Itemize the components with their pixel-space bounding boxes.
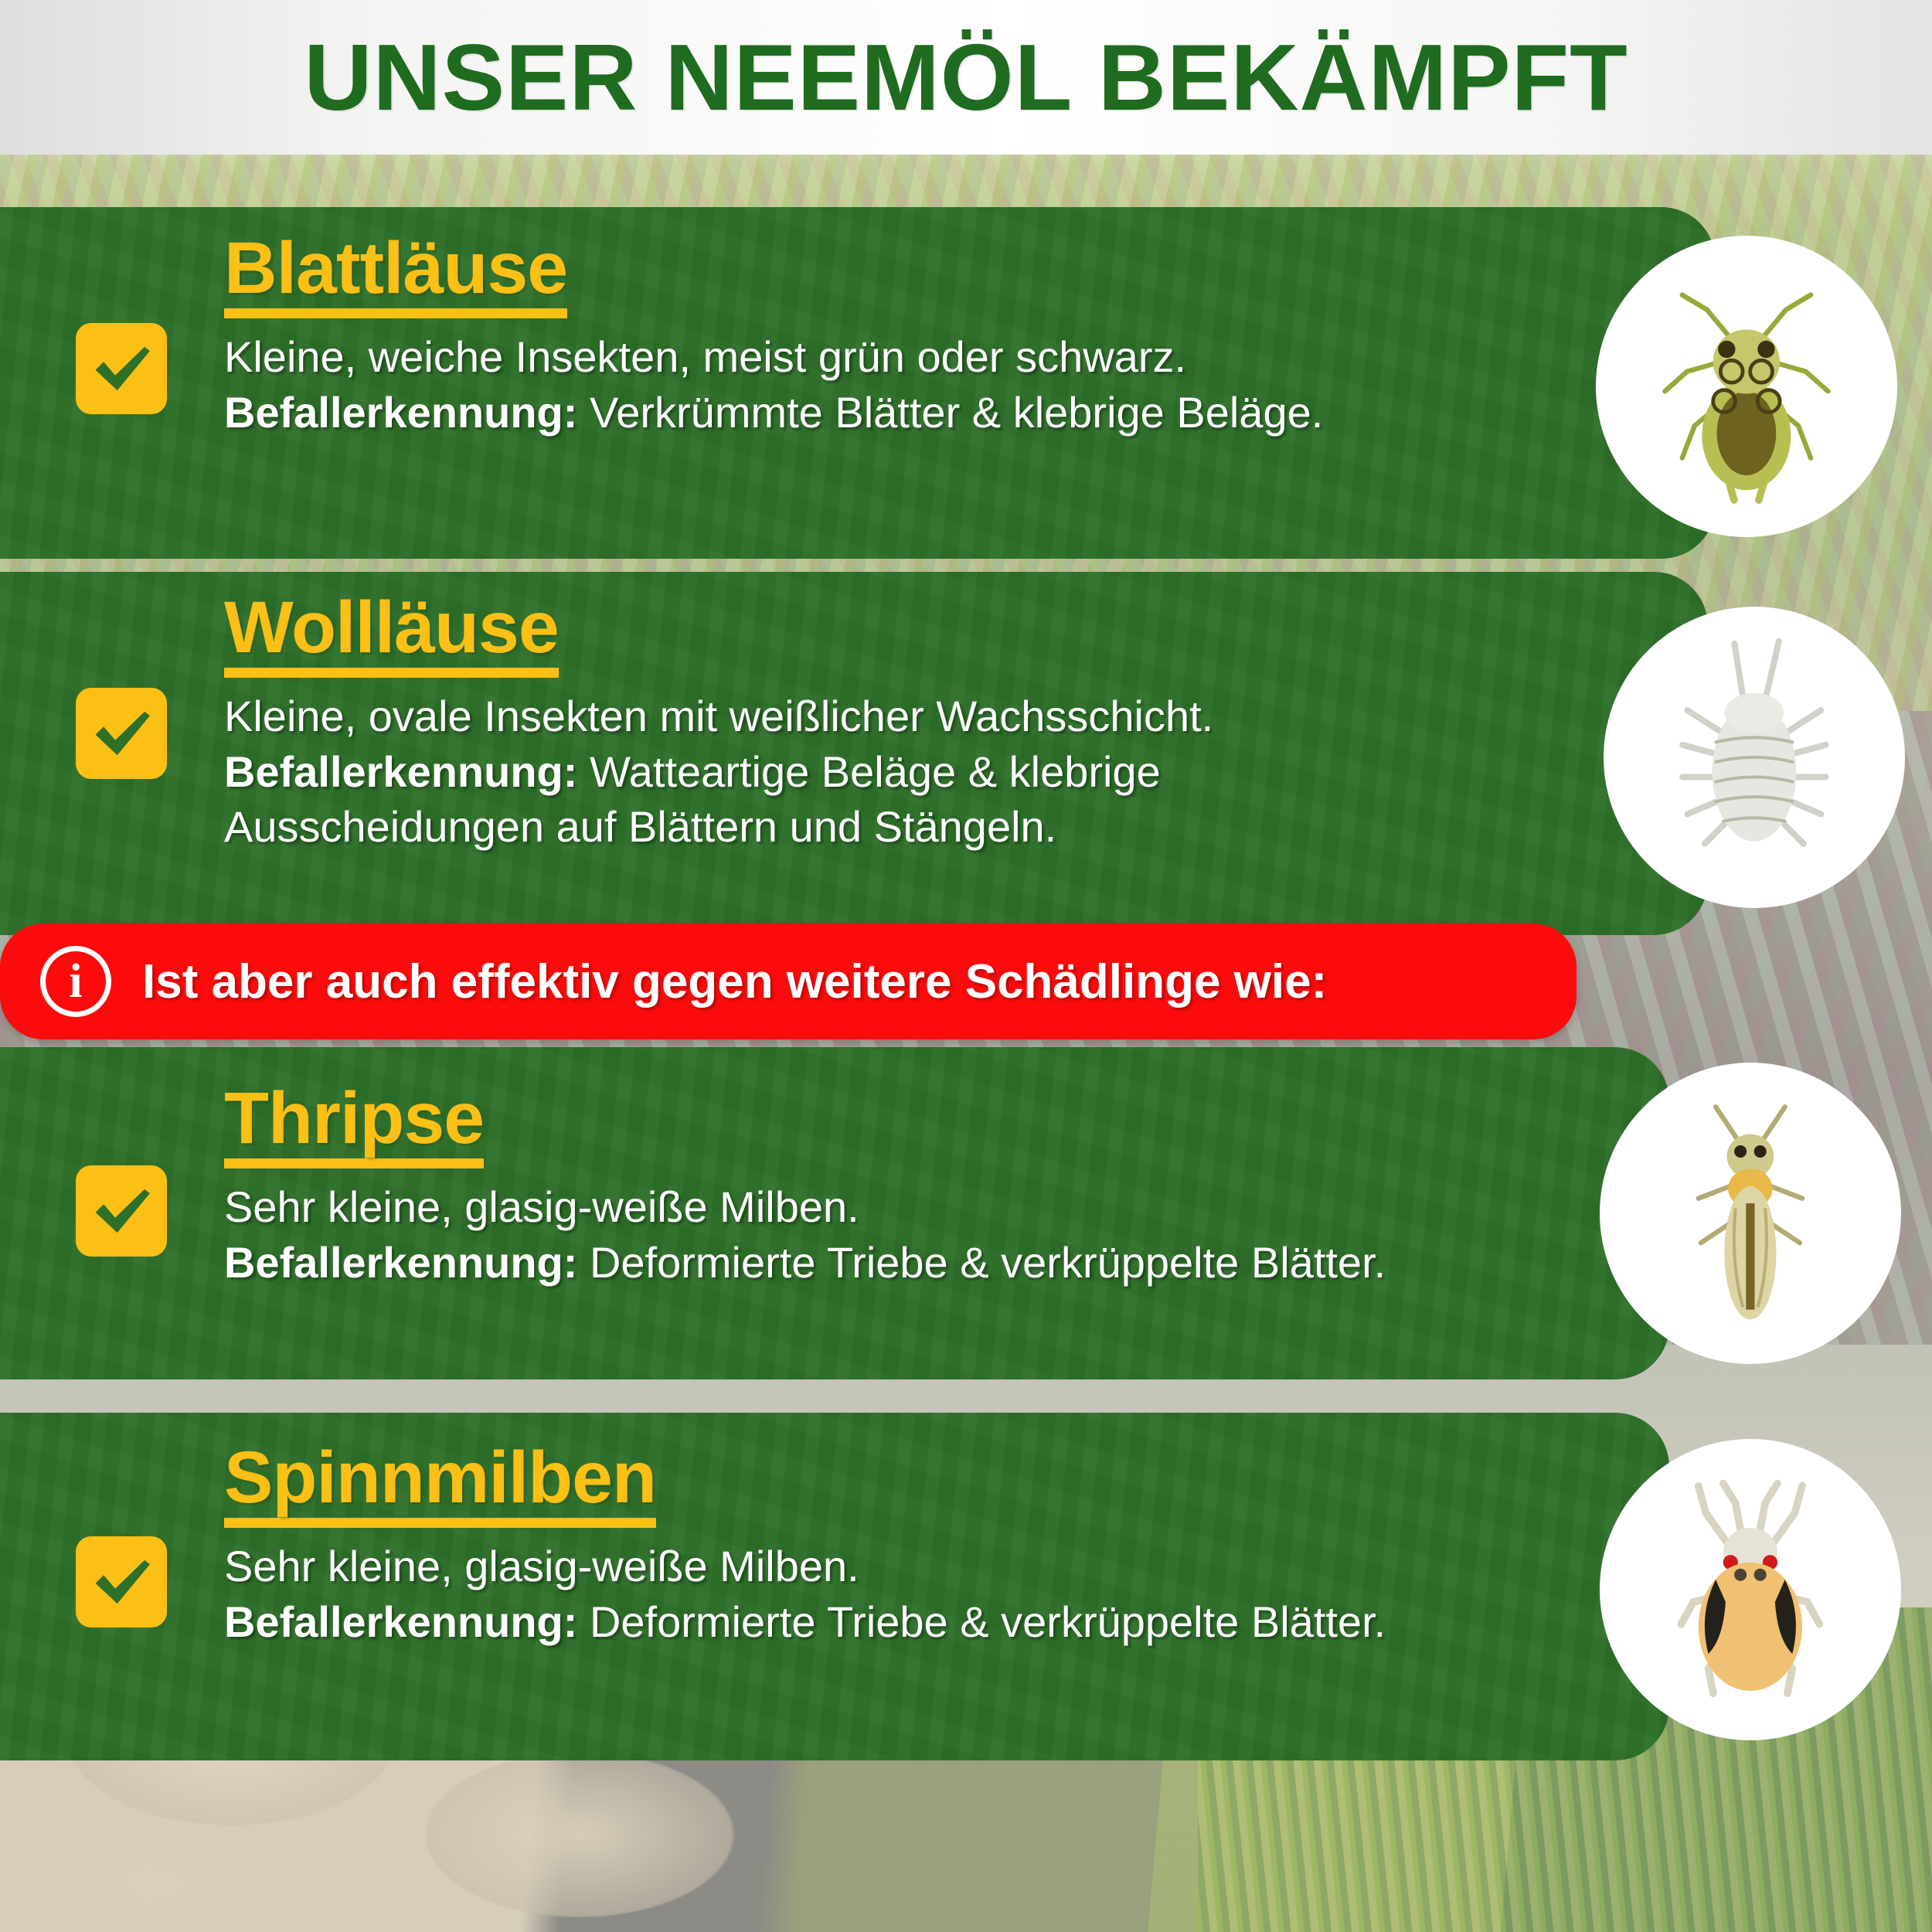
pest-image-bubble-2 [1604,607,1905,908]
pest-title-4: Spinnmilben [224,1441,656,1528]
pest-card-body-1: Blattläuse Kleine, weiche Insekten, meis… [224,232,1323,440]
checkmark-badge-1 [76,323,167,414]
pest-desc-line-3: Sehr kleine, glasig-weiße Milben. [224,1179,1386,1235]
detect-label-1: Befallerkennung: [224,388,577,437]
pest-description-4: Sehr kleine, glasig-weiße Milben. Befall… [224,1539,1386,1649]
pest-card-body-2: Wollläuse Kleine, ovale Insekten mit wei… [224,591,1492,855]
pest-desc-line-2: Kleine, ovale Insekten mit weißlicher Wa… [224,689,1445,744]
pest-image-bubble-3 [1600,1063,1901,1364]
detect-text-4: Deformierte Triebe & verkrüppelte Blätte… [577,1597,1386,1646]
pest-detect-line-2: Befallerkennung: Watteartige Beläge & kl… [224,744,1445,855]
thrips-photo [1627,1090,1874,1337]
pest-description-3: Sehr kleine, glasig-weiße Milben. Befall… [224,1179,1386,1290]
page-title: UNSER NEEMÖL BEKÄMPFT [304,23,1628,131]
pest-title-2: Wollläuse [224,591,559,678]
detect-text-3: Deformierte Triebe & verkrüppelte Blätte… [577,1238,1386,1287]
notice-text: Ist aber auch effektiv gegen weitere Sch… [142,954,1327,1009]
notice-banner[interactable]: i Ist aber auch effektiv gegen weitere S… [0,923,1577,1039]
pest-detect-line-1: Befallerkennung: Verkrümmte Blätter & kl… [224,385,1323,440]
info-icon-glyph: i [69,957,82,1005]
checkmark-icon [87,1177,155,1245]
pest-image-bubble-1 [1596,236,1897,537]
detect-label-3: Befallerkennung: [224,1238,577,1287]
pest-description-1: Kleine, weiche Insekten, meist grün oder… [224,329,1323,440]
checkmark-badge-2 [76,688,167,779]
checkmark-icon [87,1548,155,1616]
pest-description-2: Kleine, ovale Insekten mit weißlicher Wa… [224,689,1445,855]
pest-detect-line-3: Befallerkennung: Deformierte Triebe & ve… [224,1235,1386,1291]
aphid-photo [1623,263,1870,510]
detect-label-2: Befallerkennung: [224,747,577,796]
header-banner: UNSER NEEMÖL BEKÄMPFT [0,0,1932,155]
checkmark-icon [87,699,155,767]
info-circle-icon: i [40,946,111,1017]
pest-desc-line-4: Sehr kleine, glasig-weiße Milben. [224,1539,1386,1594]
checkmark-badge-4 [76,1536,167,1628]
checkmark-badge-3 [76,1165,167,1257]
pest-card-body-3: Thripse Sehr kleine, glasig-weiße Milben… [224,1082,1386,1290]
pest-card-body-4: Spinnmilben Sehr kleine, glasig-weiße Mi… [224,1441,1386,1649]
pest-detect-line-4: Befallerkennung: Deformierte Triebe & ve… [224,1594,1386,1650]
pest-card-list: Blattläuse Kleine, weiche Insekten, meis… [0,0,1932,1932]
spider-mite-photo [1627,1466,1874,1713]
pest-desc-line-1: Kleine, weiche Insekten, meist grün oder… [224,329,1323,385]
mealybug-photo [1631,634,1878,881]
pest-image-bubble-4 [1600,1439,1901,1740]
checkmark-icon [87,335,155,403]
pest-title-3: Thripse [224,1082,484,1168]
detect-text-1: Verkrümmte Blätter & klebrige Beläge. [577,388,1323,437]
detect-label-4: Befallerkennung: [224,1597,577,1646]
pest-title-1: Blattläuse [224,232,567,318]
